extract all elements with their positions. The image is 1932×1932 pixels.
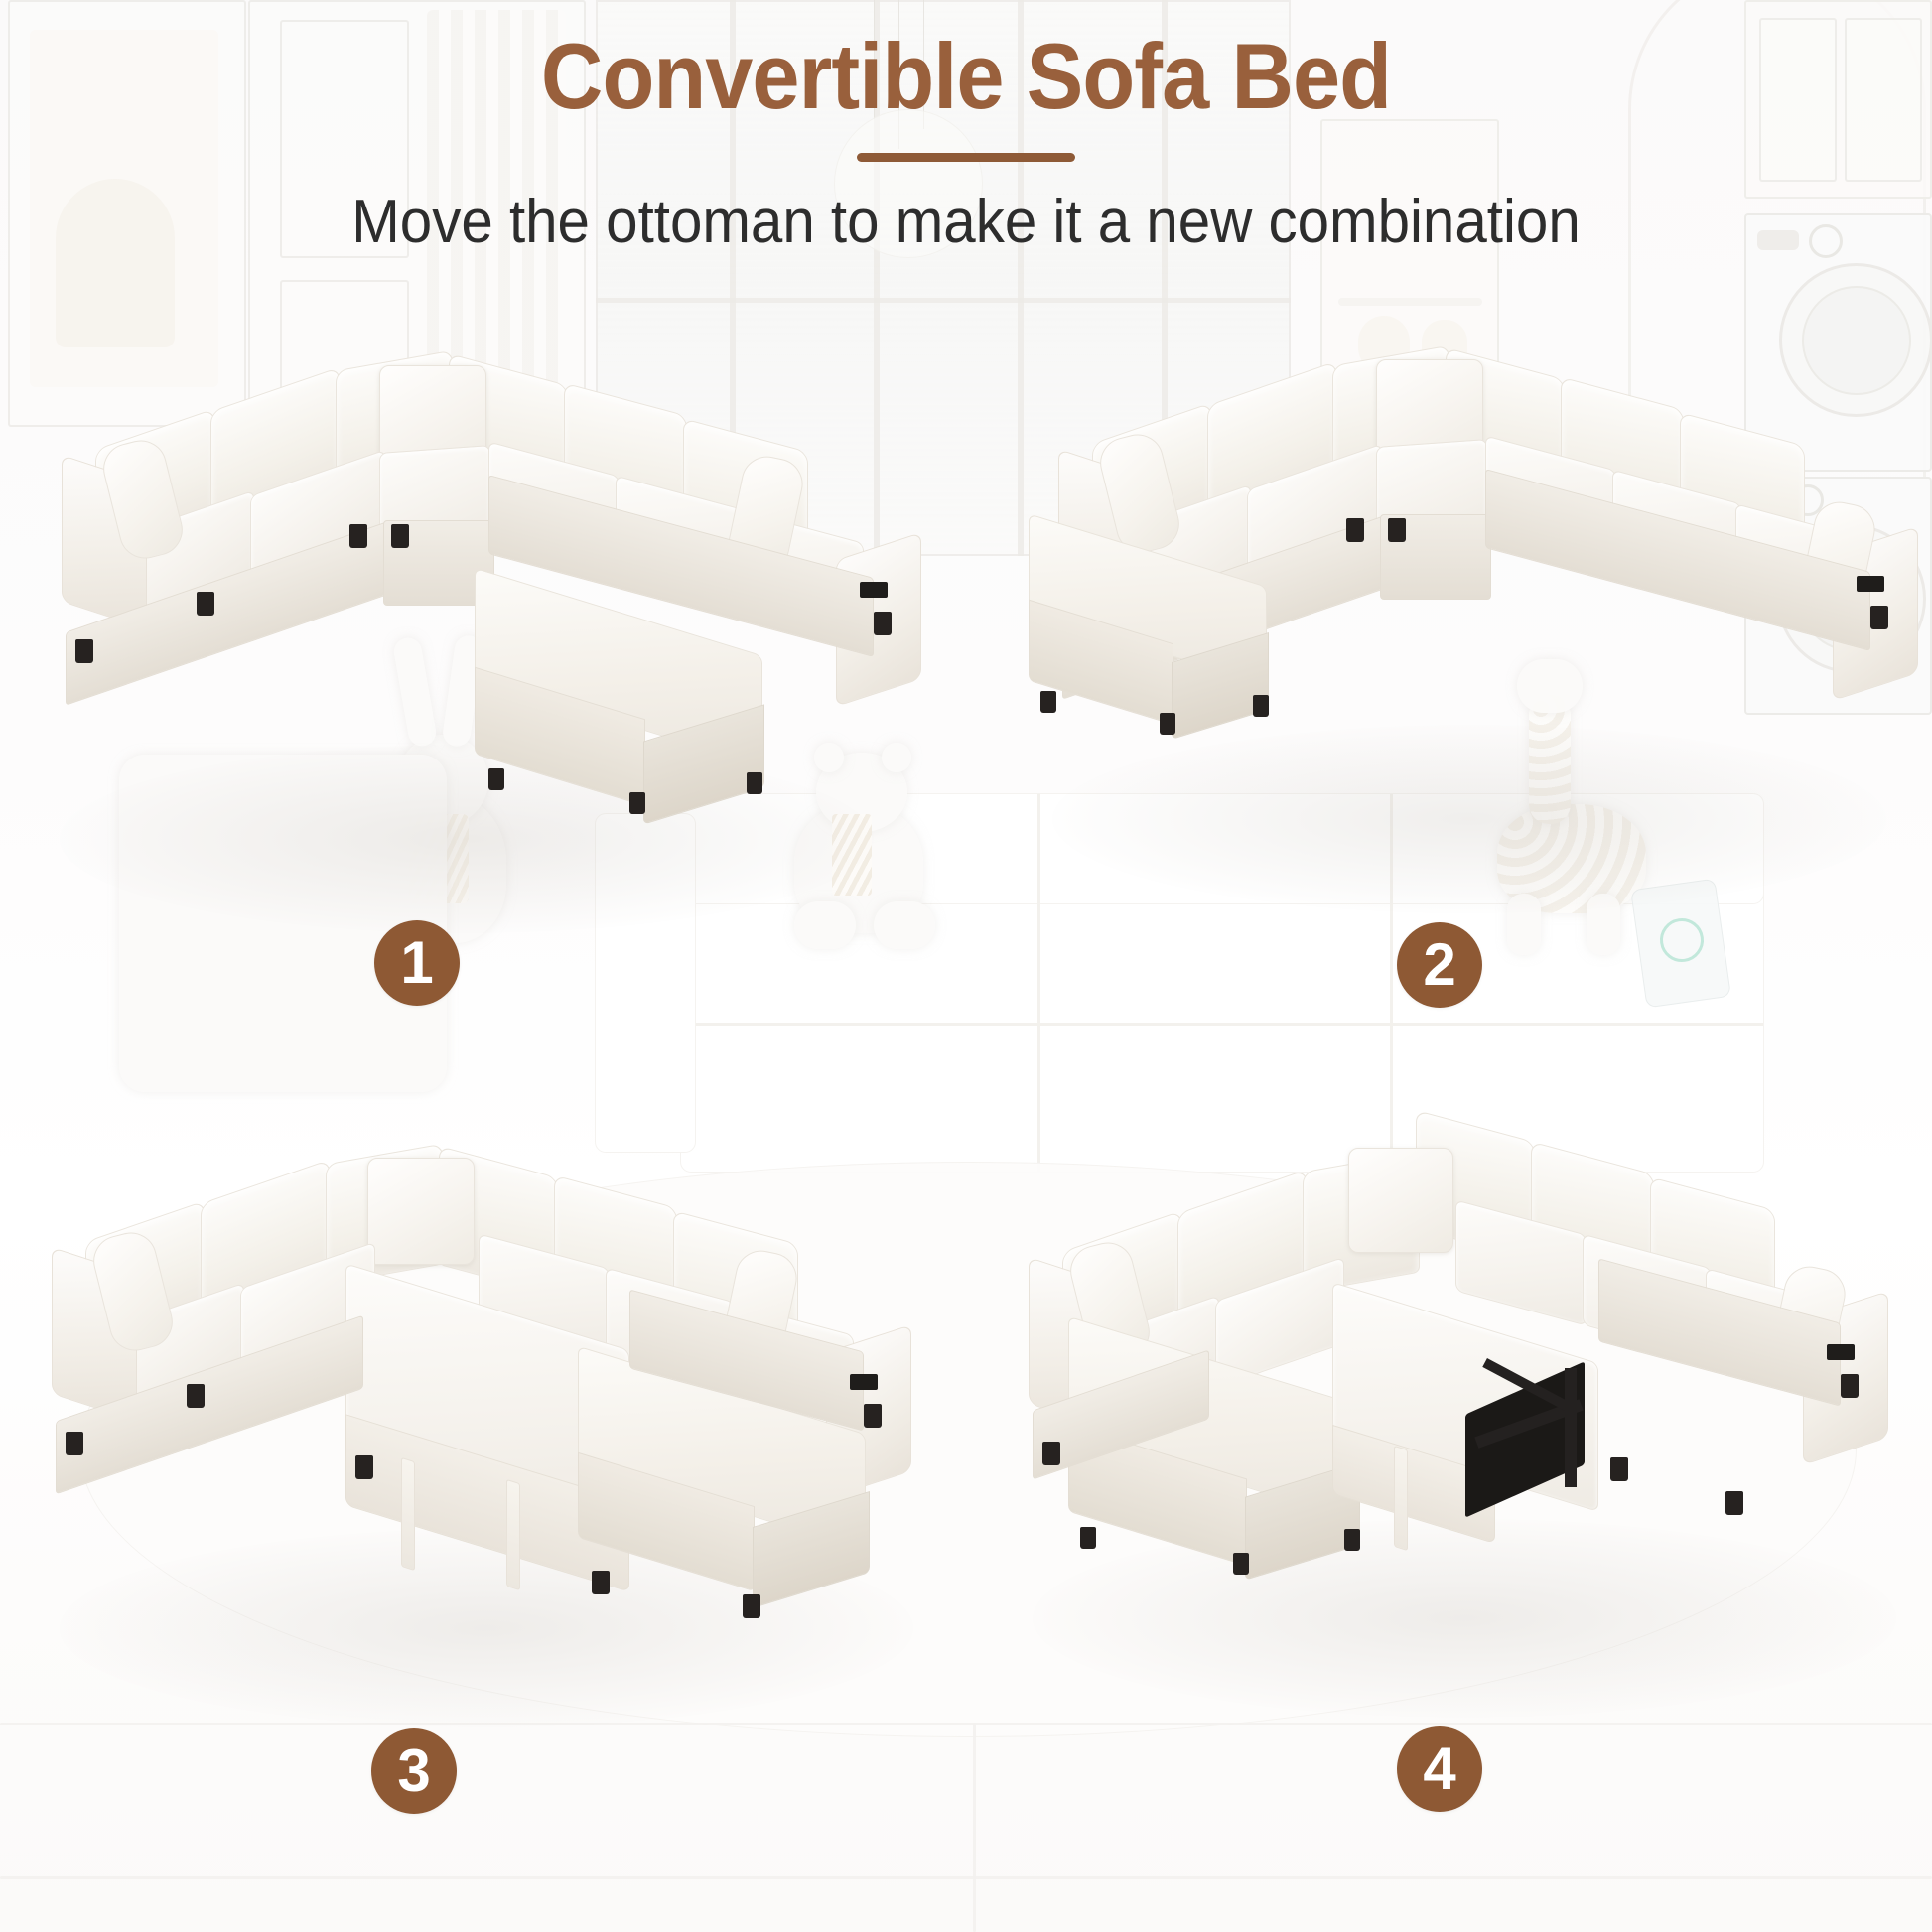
c2-leg-5 <box>1870 606 1888 629</box>
product-infographic: Convertible Sofa Bed Move the ottoman to… <box>0 0 1932 1932</box>
floor-tile-line-2 <box>0 1876 1932 1879</box>
window-transom <box>596 298 1291 303</box>
c4-fabric-tag <box>1827 1344 1855 1360</box>
c3-skirt-strap-1 <box>401 1457 415 1571</box>
c2-leg-4 <box>1388 518 1406 542</box>
c2-leg-3 <box>1346 518 1364 542</box>
c4-corner-pillow <box>1348 1148 1453 1253</box>
c1-leg-2 <box>197 592 214 616</box>
configuration-3[interactable] <box>10 1162 953 1718</box>
step-badge-1[interactable]: 1 <box>374 920 460 1006</box>
step-badge-4[interactable]: 4 <box>1397 1726 1482 1812</box>
c2-ottoman-leg-1 <box>1040 691 1056 713</box>
c4-bed-strap <box>1394 1446 1408 1551</box>
c1-ottoman-leg-2 <box>629 792 645 814</box>
c3-leg-3 <box>355 1455 373 1479</box>
header: Convertible Sofa Bed Move the ottoman to… <box>0 0 1932 254</box>
c1-ottoman-leg-3 <box>747 772 762 794</box>
floor-tile-line-1 <box>0 1723 1932 1725</box>
c4-leg-2 <box>1610 1457 1628 1481</box>
c1-ottoman-leg-1 <box>488 768 504 790</box>
c4-ottoman-leg-2 <box>1233 1553 1249 1575</box>
c4-leg-4 <box>1841 1374 1859 1398</box>
c1-leg-1 <box>75 639 93 663</box>
c2-ottoman-leg-2 <box>1160 713 1175 735</box>
step-badge-2[interactable]: 2 <box>1397 922 1482 1008</box>
c1-leg-3 <box>349 524 367 548</box>
page-subtitle: Move the ottoman to make it a new combin… <box>58 190 1873 254</box>
c3-corner-pillow <box>367 1158 475 1265</box>
c4-leg-1 <box>1042 1442 1060 1465</box>
step-badge-3[interactable]: 3 <box>371 1728 457 1814</box>
configuration-1[interactable] <box>0 377 923 933</box>
config-2-shadow <box>1052 725 1886 913</box>
cabinet-shelf-1 <box>1338 298 1482 306</box>
c3-fabric-tag <box>850 1374 878 1390</box>
configuration-2[interactable] <box>1013 367 1932 923</box>
c2-fabric-tag <box>1857 576 1884 592</box>
c3-leg-2 <box>187 1384 205 1408</box>
floor-tile-line-3 <box>973 1723 976 1932</box>
page-title: Convertible Sofa Bed <box>77 0 1855 123</box>
c1-leg-4 <box>391 524 409 548</box>
configuration-4[interactable] <box>983 1132 1932 1708</box>
c4-bed-frame-leg <box>1565 1368 1577 1487</box>
c1-fabric-tag <box>860 582 888 598</box>
c3-leg-1 <box>66 1432 83 1455</box>
config-4-shadow <box>1033 1519 1896 1718</box>
c4-ottoman-leg-1 <box>1080 1527 1096 1549</box>
c4-ottoman-leg-3 <box>1344 1529 1360 1551</box>
c3-leg-4 <box>592 1571 610 1594</box>
couch-seam-3 <box>681 1023 1763 1026</box>
c3-skirt-strap-2 <box>506 1479 520 1590</box>
title-divider <box>857 153 1075 162</box>
c3-leg-6 <box>864 1404 882 1428</box>
c3-leg-5 <box>743 1594 760 1618</box>
c4-leg-3 <box>1725 1491 1743 1515</box>
c2-ottoman-leg-3 <box>1253 695 1269 717</box>
c1-leg-5 <box>874 612 892 635</box>
